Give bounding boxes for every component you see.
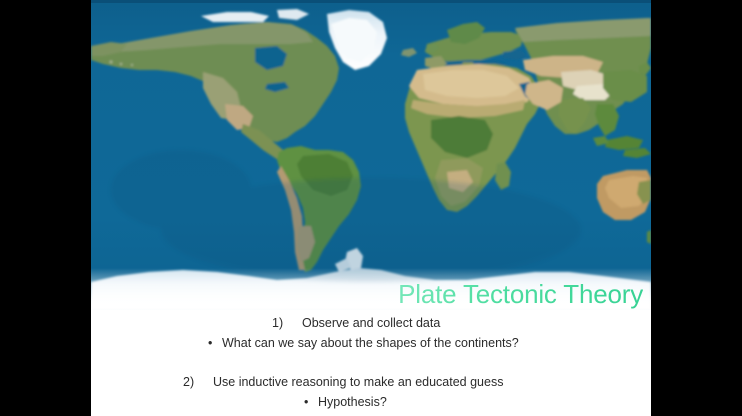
step-2-text: Use inductive reasoning to make an educa… [213, 375, 503, 389]
step-1-sub-text: What can we say about the shapes of the … [222, 336, 519, 350]
letterbox-bar-right [651, 0, 742, 416]
step-1-text: Observe and collect data [302, 316, 440, 330]
map-top-edge [91, 0, 651, 3]
step-1-marker: 1) [272, 313, 302, 333]
page-title: Plate Tectonic Theory [381, 279, 643, 310]
video-frame: Plate Tectonic Theory 1)Observe and coll… [0, 0, 742, 416]
bullet-dot-icon: • [304, 392, 318, 412]
list-item-step-1-sub: •What can we say about the shapes of the… [91, 333, 651, 353]
list-item-step-1: 1)Observe and collect data [91, 313, 651, 333]
paragraph-spacer [91, 353, 651, 372]
list-item-step-2-sub: •Hypothesis? [91, 392, 651, 412]
step-2-marker: 2) [183, 372, 213, 392]
letterbox-bar-left [0, 0, 91, 416]
world-map-image [91, 0, 651, 310]
slide-body-text: 1)Observe and collect data •What can we … [91, 313, 651, 412]
bullet-dot-icon: • [208, 333, 222, 353]
presentation-slide: Plate Tectonic Theory 1)Observe and coll… [91, 0, 651, 416]
list-item-step-2: 2)Use inductive reasoning to make an edu… [91, 372, 651, 392]
step-2-sub-text: Hypothesis? [318, 395, 387, 409]
